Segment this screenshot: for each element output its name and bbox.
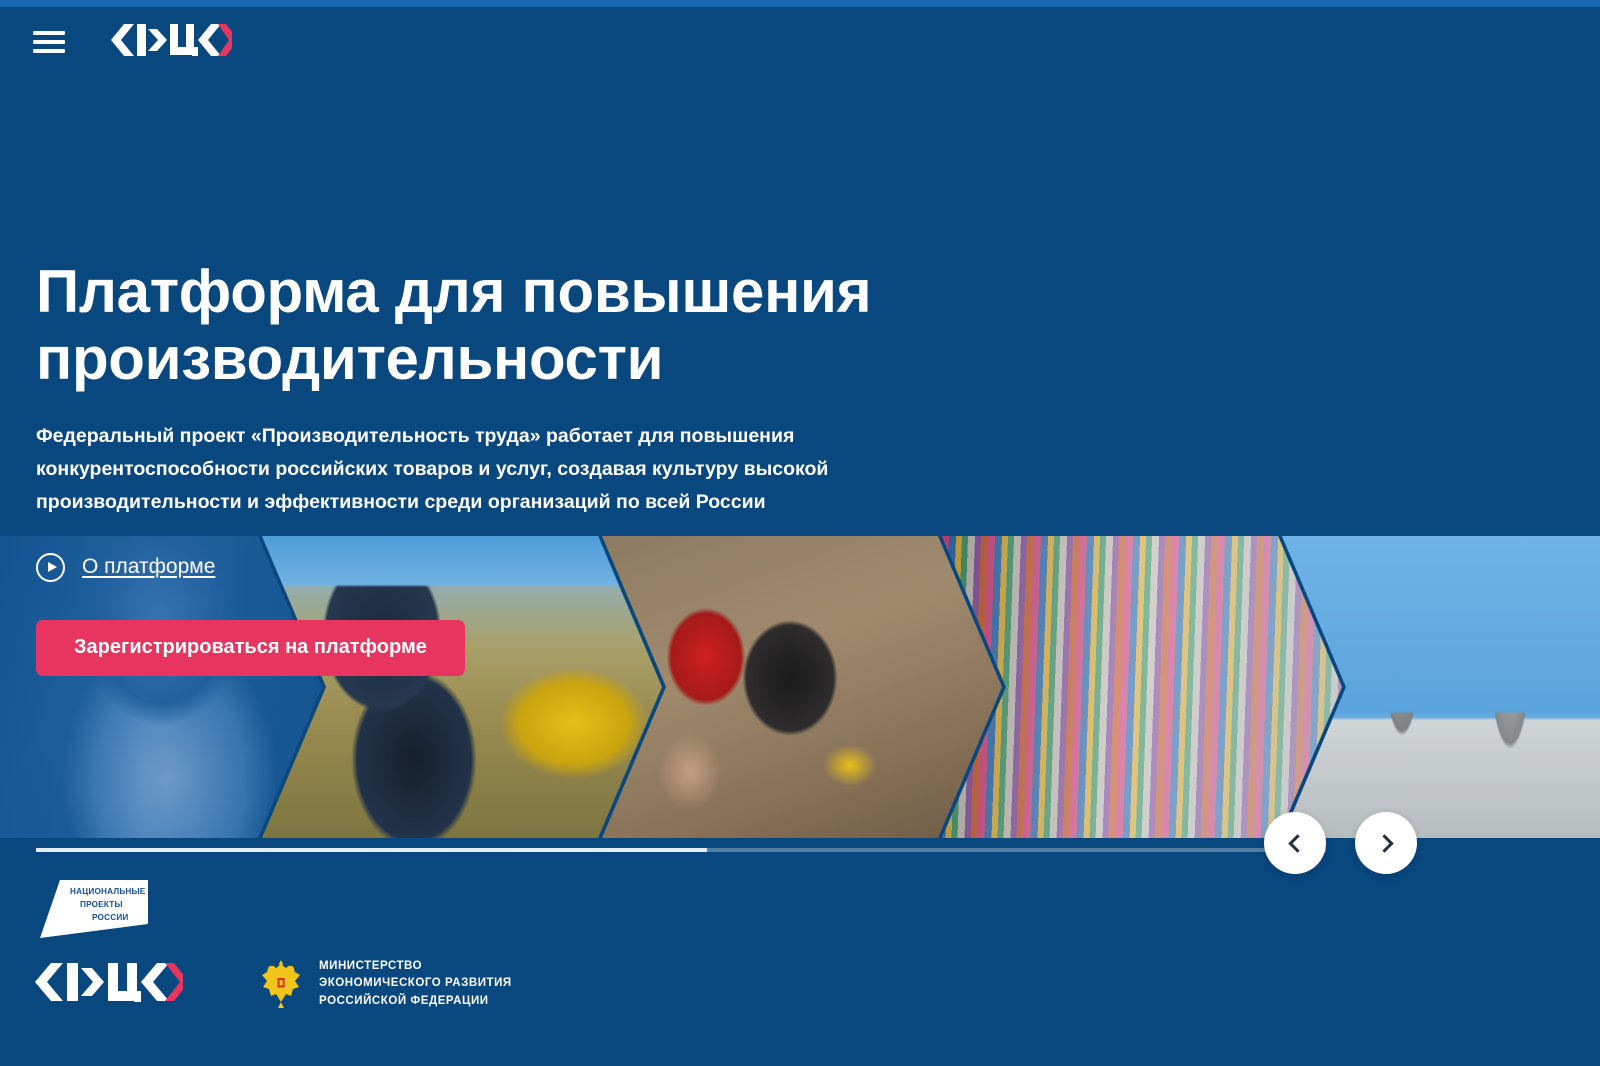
site-header — [0, 7, 1600, 77]
ministry-logo-block[interactable]: МИНИСТЕРСТВО ЭКОНОМИЧЕСКОГО РАЗВИТИЯ РОС… — [258, 958, 512, 1010]
register-button[interactable]: Зарегистрироваться на платформе — [36, 620, 465, 676]
hero-section: Платформа для повышения производительнос… — [36, 258, 1136, 676]
about-platform-label[interactable]: О платформе — [82, 555, 215, 579]
footer-brand-logo-fck[interactable] — [33, 961, 183, 1008]
fck-logo-icon — [110, 23, 232, 57]
hamburger-bar — [33, 31, 65, 35]
top-accent-bar — [0, 0, 1600, 7]
svg-text:РОССИИ: РОССИИ — [92, 913, 129, 922]
brand-logo-fck[interactable] — [110, 23, 232, 62]
fck-logo-icon — [33, 961, 183, 1003]
ministry-line-2: ЭКОНОМИЧЕСКОГО РАЗВИТИЯ — [319, 975, 512, 992]
carousel-prev-button[interactable] — [1264, 812, 1326, 874]
about-platform-link-row[interactable]: О платформе — [36, 553, 215, 582]
hamburger-menu-icon[interactable] — [33, 31, 65, 53]
national-projects-logo[interactable]: НАЦИОНАЛЬНЫЕ ПРОЕКТЫ РОССИИ — [36, 866, 151, 943]
carousel-progress-bar[interactable] — [36, 848, 1326, 852]
chevron-left-icon — [1288, 834, 1306, 852]
svg-text:ПРОЕКТЫ: ПРОЕКТЫ — [80, 900, 123, 909]
chevron-right-icon — [1375, 834, 1393, 852]
play-circle-icon — [36, 553, 65, 582]
ministry-line-1: МИНИСТЕРСТВО — [319, 958, 512, 975]
ministry-line-3: РОССИЙСКОЙ ФЕДЕРАЦИИ — [319, 993, 512, 1010]
carousel-next-button[interactable] — [1355, 812, 1417, 874]
svg-text:НАЦИОНАЛЬНЫЕ: НАЦИОНАЛЬНЫЕ — [70, 887, 146, 896]
ministry-name: МИНИСТЕРСТВО ЭКОНОМИЧЕСКОГО РАЗВИТИЯ РОС… — [319, 958, 512, 1010]
russian-coat-of-arms-icon — [258, 958, 304, 1010]
page-title: Платформа для повышения производительнос… — [36, 258, 1096, 392]
progress-fill — [36, 848, 707, 852]
hamburger-bar — [33, 40, 65, 44]
page-root: Платформа для повышения производительнос… — [0, 0, 1600, 1066]
hero-description: Федеральный проект «Производительность т… — [36, 420, 876, 518]
national-projects-flag-icon: НАЦИОНАЛЬНЫЕ ПРОЕКТЫ РОССИИ — [36, 866, 151, 938]
footer-logo-row: МИНИСТЕРСТВО ЭКОНОМИЧЕСКОГО РАЗВИТИЯ РОС… — [33, 958, 512, 1010]
hamburger-bar — [33, 49, 65, 53]
